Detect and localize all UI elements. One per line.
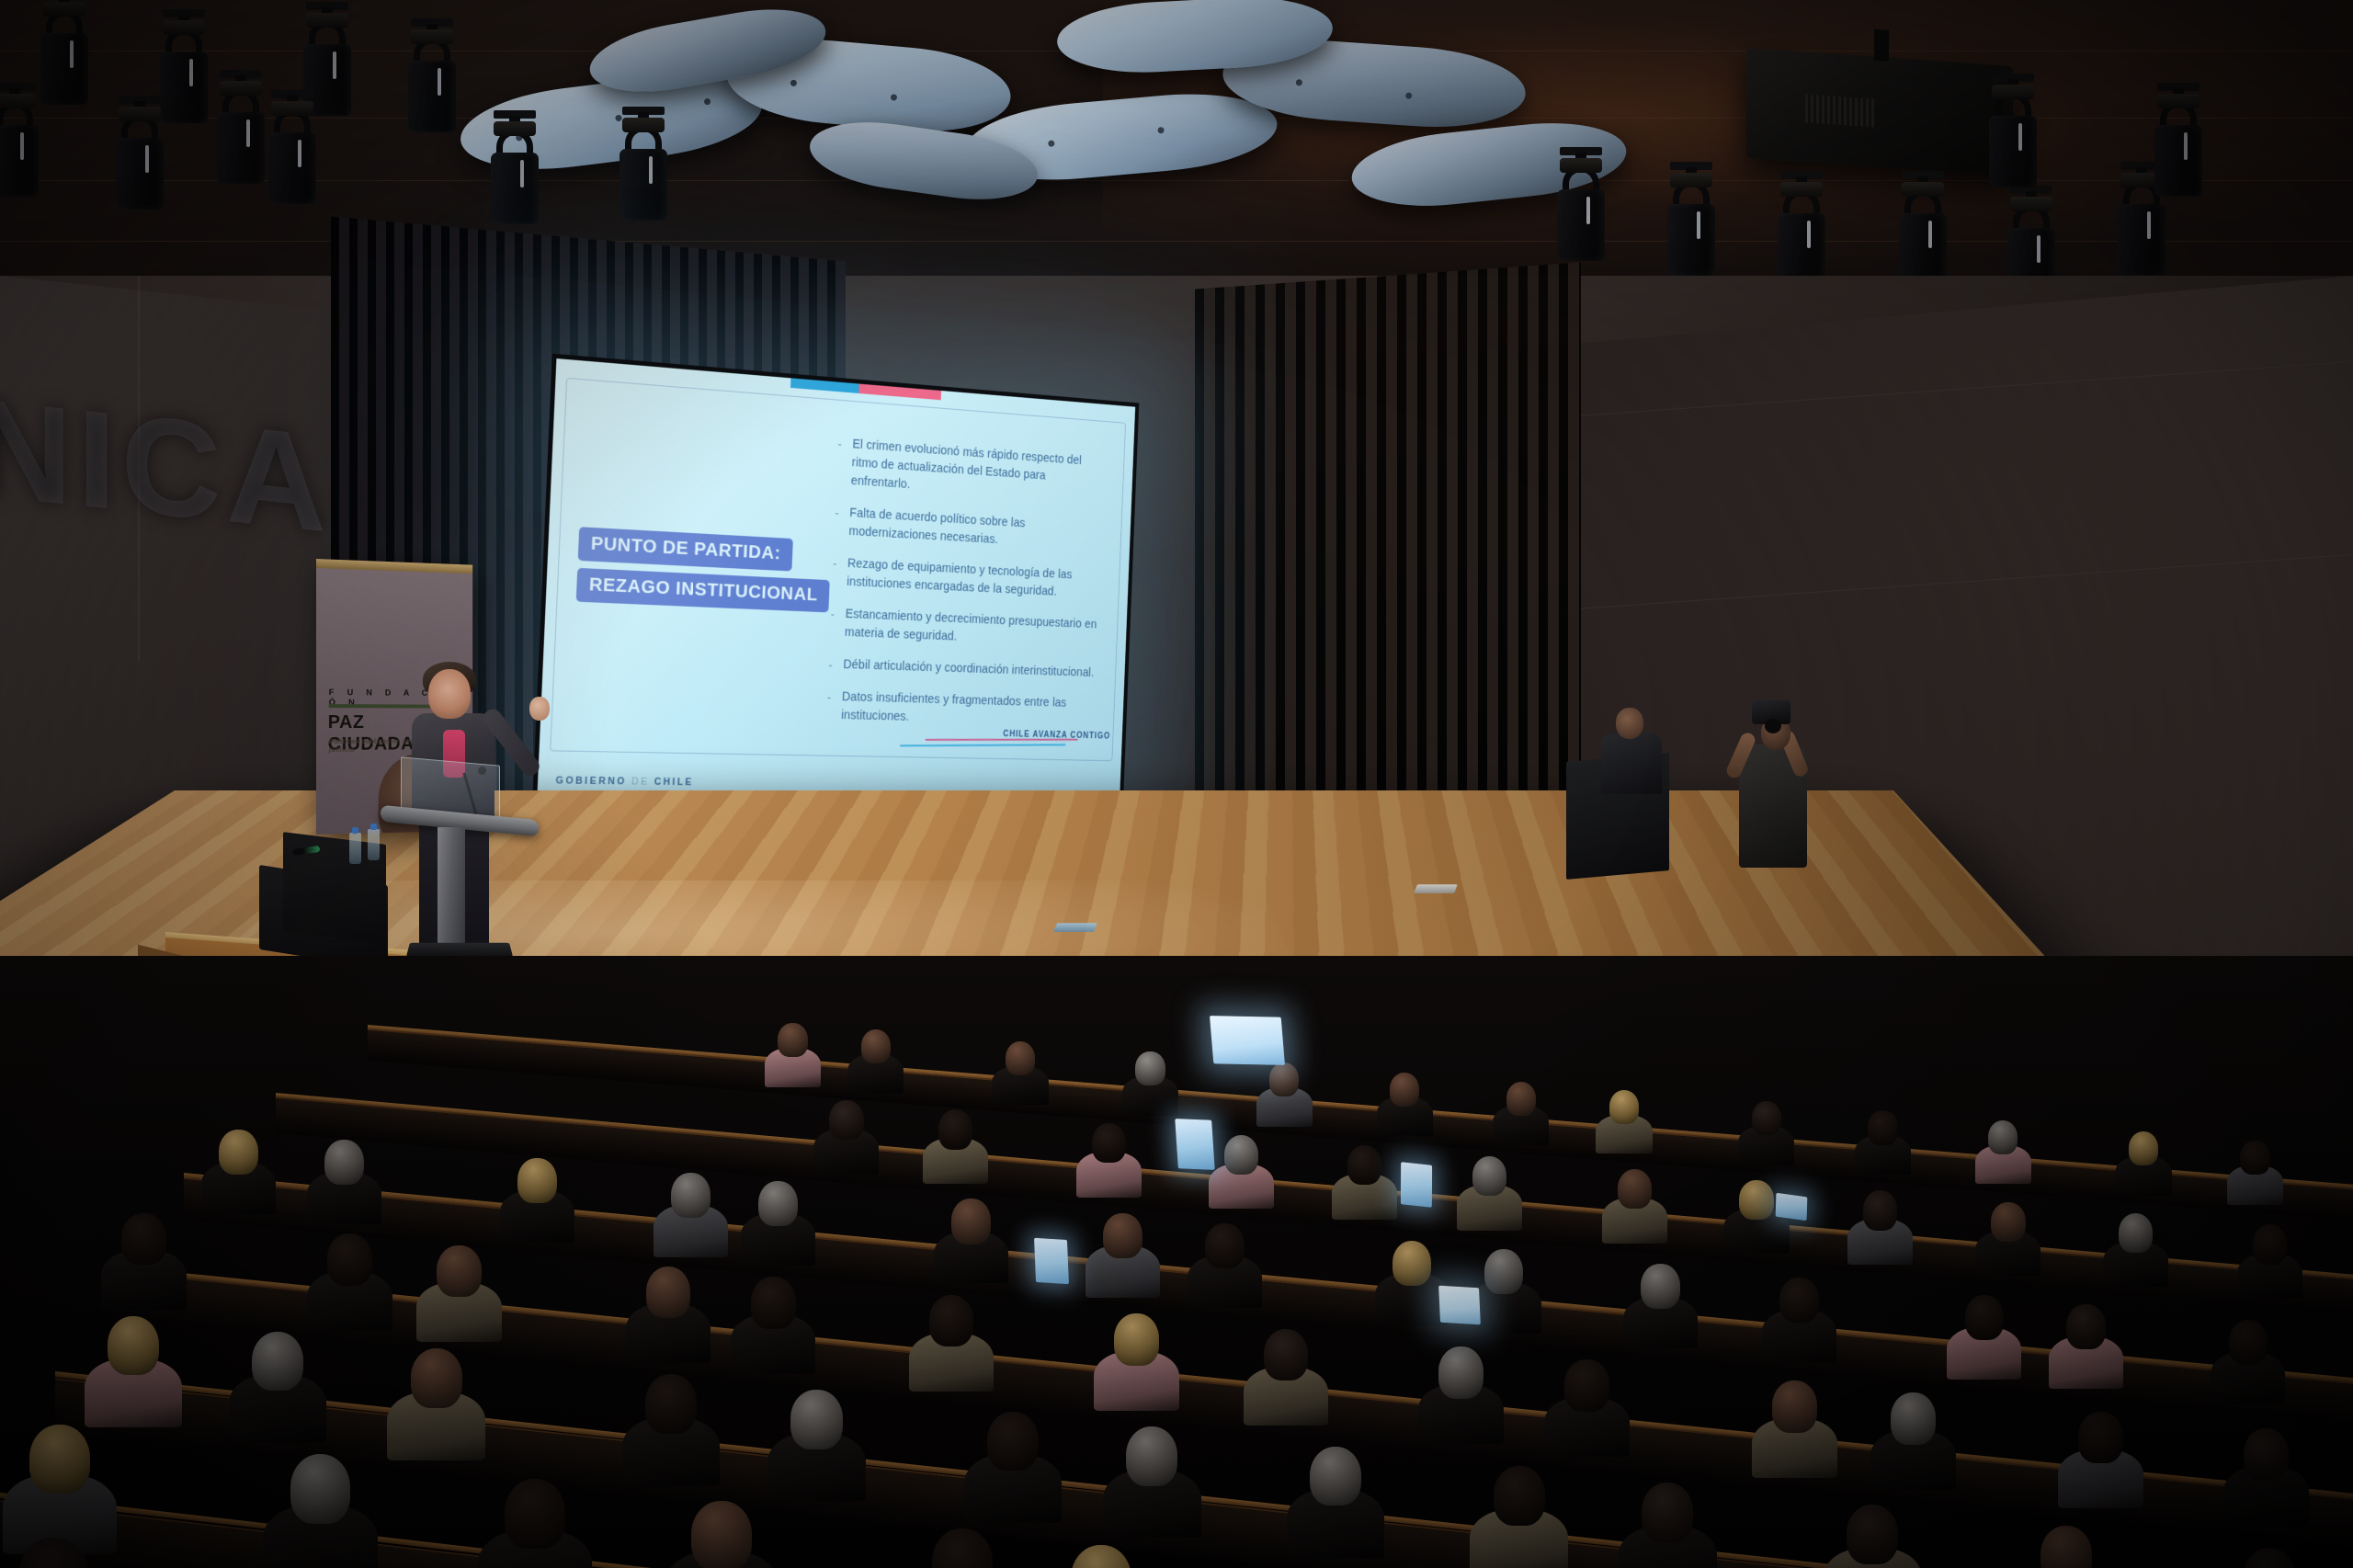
phone-screen bbox=[1034, 1238, 1069, 1284]
phone-screen bbox=[1175, 1119, 1214, 1170]
projection-screen: PUNTO DE PARTIDA: REZAGO INSTITUCIONAL -… bbox=[532, 354, 1139, 809]
audience-head bbox=[2129, 1131, 2158, 1165]
slide-bullet: -Rezago de equipamiento y tecnología de … bbox=[832, 554, 1100, 604]
audience-head bbox=[1618, 1169, 1652, 1209]
audience-head bbox=[1988, 1120, 2018, 1154]
audience-head bbox=[1863, 1190, 1897, 1230]
stage-curtain-right bbox=[1195, 262, 1581, 858]
audience-head bbox=[758, 1181, 798, 1226]
audience-head bbox=[2229, 1320, 2268, 1365]
audience-head bbox=[517, 1158, 557, 1203]
audience-head bbox=[938, 1109, 972, 1149]
audience-head bbox=[671, 1173, 710, 1218]
slide-bullet: -Estancamiento y decrecimiento presupues… bbox=[830, 605, 1098, 652]
audience-head bbox=[1564, 1359, 1609, 1411]
audience-head bbox=[2119, 1213, 2153, 1253]
audience-head bbox=[951, 1199, 991, 1244]
audience-head bbox=[2240, 1141, 2269, 1175]
audience-head bbox=[1103, 1213, 1142, 1258]
audience-head bbox=[2078, 1412, 2123, 1463]
audience-head bbox=[121, 1213, 166, 1265]
audience-head bbox=[829, 1100, 863, 1140]
audience-head bbox=[437, 1245, 482, 1297]
audience-head bbox=[2253, 1224, 2287, 1264]
audience-head bbox=[290, 1454, 351, 1524]
slide-title: PUNTO DE PARTIDA: REZAGO INSTITUCIONAL bbox=[575, 527, 833, 619]
tech-operator bbox=[1599, 708, 1667, 792]
floor-plate bbox=[1414, 884, 1458, 893]
audience-head bbox=[108, 1316, 159, 1376]
audience-head bbox=[1991, 1202, 2025, 1242]
audience-head bbox=[29, 1425, 90, 1494]
brand-word-de: DE bbox=[631, 777, 650, 788]
water-bottle bbox=[349, 833, 361, 864]
audience-head bbox=[2066, 1304, 2106, 1349]
lectern bbox=[381, 761, 539, 961]
lectern-base bbox=[406, 943, 513, 957]
audience-head bbox=[790, 1390, 842, 1449]
audience-head bbox=[1641, 1264, 1680, 1309]
bullet-marker-icon: - bbox=[826, 688, 843, 725]
audience-head bbox=[1224, 1135, 1258, 1175]
audience-head bbox=[1264, 1329, 1309, 1381]
audience-head bbox=[327, 1233, 372, 1285]
speaker-hand bbox=[529, 697, 550, 721]
audience-head bbox=[1779, 1278, 1819, 1323]
audience-head bbox=[1494, 1466, 1545, 1526]
screen-frame: PUNTO DE PARTIDA: REZAGO INSTITUCIONAL -… bbox=[532, 354, 1139, 809]
audience-head bbox=[1347, 1145, 1381, 1185]
bullet-text: Rezago de equipamiento y tecnología de l… bbox=[847, 555, 1100, 604]
floor-plate bbox=[1053, 923, 1097, 932]
auditorium-photo: NICA PUNTO DE PARTIDA: REZAGO INSTITUCIO… bbox=[0, 0, 2353, 1568]
bullet-marker-icon: - bbox=[836, 435, 853, 491]
bullet-marker-icon: - bbox=[828, 655, 844, 675]
bullet-text: Débil articulación y coordinación interi… bbox=[843, 656, 1095, 683]
slide-government-brand: GOBIERNO DE CHILE bbox=[555, 775, 694, 788]
audience-head bbox=[751, 1277, 796, 1328]
audience-head bbox=[778, 1023, 807, 1057]
audience-head bbox=[1891, 1392, 1936, 1444]
audience-head bbox=[1114, 1313, 1159, 1365]
audience-head bbox=[1205, 1223, 1245, 1268]
audience-head bbox=[1390, 1073, 1419, 1107]
audience-head bbox=[1752, 1101, 1781, 1135]
audience-head bbox=[929, 1295, 974, 1346]
audience-head bbox=[1609, 1090, 1639, 1124]
audience-head bbox=[411, 1348, 462, 1408]
audience-head bbox=[1965, 1295, 2005, 1340]
bullet-text: Datos insuficientes y fragmentados entre… bbox=[841, 688, 1096, 731]
bullet-text: Falta de acuerdo político sobre las mode… bbox=[848, 505, 1102, 555]
projector bbox=[1746, 48, 2013, 176]
audience-head bbox=[1269, 1062, 1299, 1096]
slide-bullet: -Débil articulación y coordinación inter… bbox=[828, 655, 1097, 683]
audience-head bbox=[987, 1412, 1039, 1471]
audience-head bbox=[1484, 1249, 1524, 1294]
slide-bullet: -Falta de acuerdo político sobre las mod… bbox=[834, 504, 1102, 555]
slide-title-line-2: REZAGO INSTITUCIONAL bbox=[576, 568, 830, 612]
audience-head bbox=[1642, 1483, 1693, 1542]
audience-head bbox=[1135, 1051, 1165, 1085]
bullet-marker-icon: - bbox=[834, 504, 849, 541]
speaker-head bbox=[428, 669, 471, 719]
audience-head bbox=[219, 1130, 258, 1175]
audience-head bbox=[252, 1332, 303, 1392]
audience-head bbox=[1092, 1123, 1126, 1163]
audience-head bbox=[1506, 1082, 1536, 1116]
lectern-column bbox=[438, 827, 465, 945]
audience-head bbox=[324, 1140, 364, 1185]
phone-screen bbox=[1776, 1193, 1808, 1221]
audience-head bbox=[691, 1501, 752, 1568]
audience-head bbox=[1739, 1180, 1773, 1220]
laptop-screen bbox=[1438, 1286, 1481, 1325]
audience-head bbox=[1006, 1041, 1035, 1075]
audience-head bbox=[646, 1267, 691, 1318]
slide-bullet: -Datos insuficientes y fragmentados entr… bbox=[826, 688, 1096, 732]
camera-lens-icon bbox=[1765, 719, 1781, 733]
water-bottle bbox=[368, 829, 380, 860]
audience-head bbox=[1847, 1505, 1898, 1564]
slide-bullet-list: -El crimen evolucionó más rápido respect… bbox=[825, 435, 1105, 744]
brand-word-gobierno: GOBIERNO bbox=[555, 775, 627, 787]
brand-word-chile: CHILE bbox=[654, 777, 694, 788]
audience-head bbox=[1126, 1426, 1177, 1486]
audience-head bbox=[505, 1479, 565, 1549]
audience-head bbox=[1392, 1241, 1432, 1286]
bullet-text: Estancamiento y decrecimiento presupuest… bbox=[844, 606, 1098, 652]
audience-head bbox=[1310, 1447, 1361, 1506]
audience-head bbox=[645, 1374, 697, 1434]
laptop-screen bbox=[1210, 1016, 1285, 1065]
accent-bar-pink bbox=[858, 384, 941, 401]
accent-bar-cyan bbox=[790, 378, 859, 393]
bullet-marker-icon: - bbox=[830, 605, 847, 642]
audience-head bbox=[2244, 1428, 2289, 1480]
photographer bbox=[1730, 706, 1818, 871]
audience-head bbox=[861, 1029, 891, 1063]
bullet-marker-icon: - bbox=[832, 554, 847, 592]
audience-head bbox=[1438, 1346, 1483, 1398]
presentation-slide: PUNTO DE PARTIDA: REZAGO INSTITUCIONAL -… bbox=[537, 358, 1135, 804]
audience-head bbox=[1868, 1110, 1897, 1144]
audience-head bbox=[1472, 1156, 1506, 1196]
audience-head bbox=[1772, 1381, 1817, 1432]
phone-screen bbox=[1401, 1162, 1432, 1208]
